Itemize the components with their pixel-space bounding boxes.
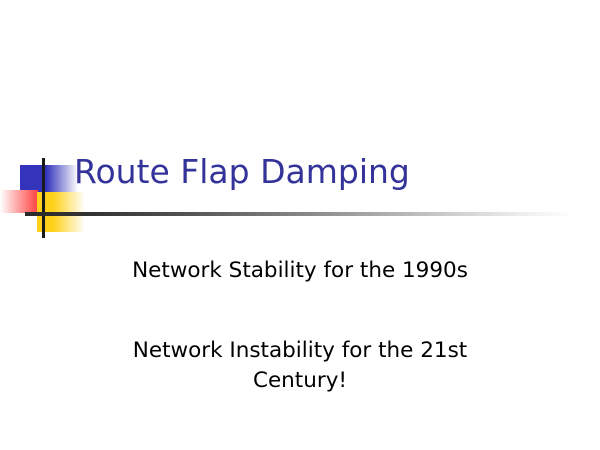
- slide-title: Route Flap Damping: [74, 152, 574, 192]
- slide-subtitle-block: Network Stability for the 1990s Network …: [85, 256, 515, 396]
- red-gradient-icon: [0, 190, 38, 213]
- title-slide: Route Flap Damping Network Stability for…: [0, 0, 600, 450]
- yellow-square-icon: [37, 192, 53, 232]
- subtitle-line-1: Network Stability for the 1990s: [85, 256, 515, 286]
- yellow-gradient-icon: [53, 192, 85, 232]
- blue-square-icon: [20, 165, 46, 193]
- horizontal-rule-divider: [25, 212, 575, 216]
- vertical-rule-icon: [42, 158, 45, 238]
- subtitle-line-2: Network Instability for the 21st Century…: [85, 336, 515, 396]
